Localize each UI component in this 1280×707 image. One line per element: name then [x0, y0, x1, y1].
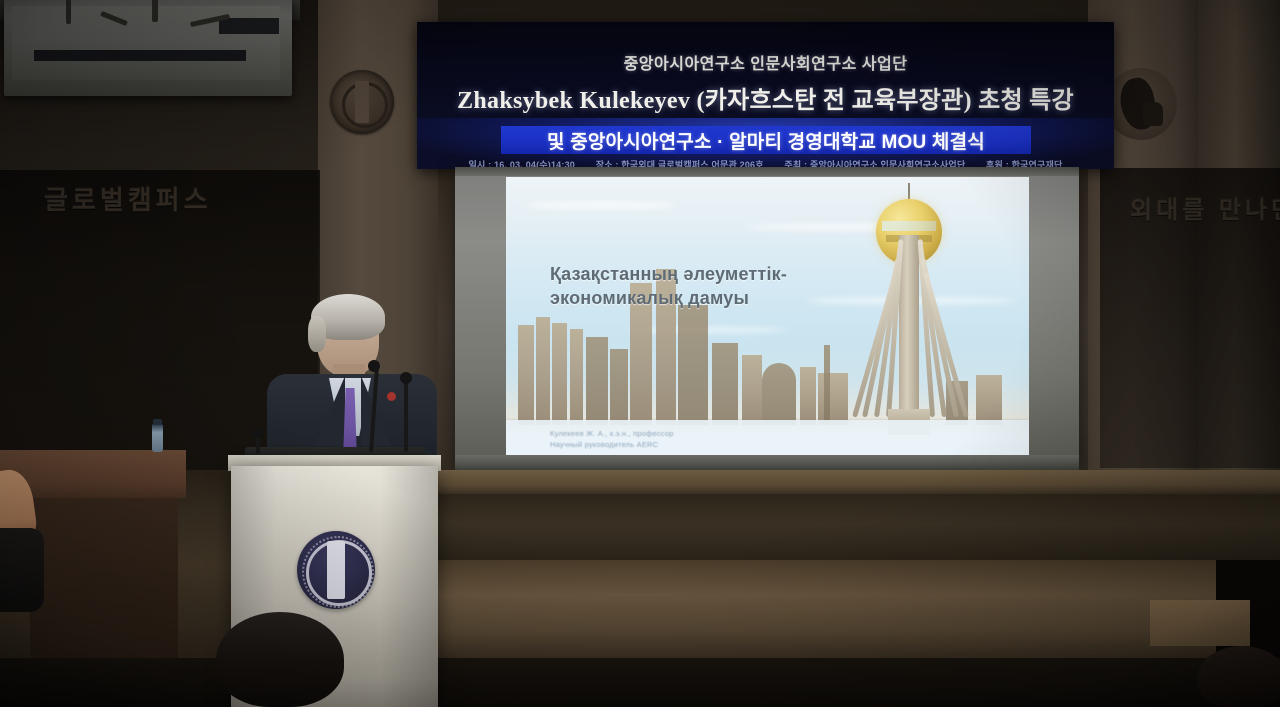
- microphone-head-icon: [252, 428, 264, 438]
- ceiling-monitor: [4, 0, 292, 96]
- monitor-bezel-bar: [34, 50, 246, 61]
- stage-riser: [430, 494, 1280, 560]
- sphere-window-band: [882, 221, 936, 231]
- skyline-building: [586, 337, 608, 425]
- cable-icon: [152, 0, 158, 22]
- skyline-building: [570, 329, 583, 425]
- water-bottle-cap: [153, 419, 162, 425]
- projection-screen: Қазақстанның әлеуметтік-экономикалық дам…: [455, 167, 1079, 467]
- skyline-building: [518, 325, 534, 425]
- event-banner: 중앙아시아연구소 인문사회연구소 사업단 Zhaksybek Kulekeyev…: [417, 22, 1114, 169]
- audience-head-front: [216, 612, 344, 707]
- monitor-port-block: [219, 18, 279, 34]
- slide-author-line2: Научный руководитель AERC: [550, 439, 674, 450]
- side-table-base: [30, 498, 178, 658]
- cloud-icon: [526, 201, 676, 210]
- wood-panel-right: [1150, 600, 1250, 646]
- stage-front-edge: [430, 470, 1280, 494]
- microphone-head-icon: [400, 372, 412, 384]
- slide-footer-band: Кулекеев Ж. А., к.э.н., профессор Научны…: [506, 420, 1029, 460]
- hufs-podium-emblem-icon: [297, 531, 375, 609]
- speaker-lapel-pin: [387, 392, 396, 401]
- skyline-building: [678, 305, 708, 425]
- skyline-building: [712, 343, 738, 425]
- foreground-shadow-band: [0, 658, 1280, 707]
- cable-icon: [66, 0, 71, 24]
- slide-author-line1: Кулекеев Ж. А., к.э.н., профессор: [550, 428, 674, 439]
- presentation-slide: Қазақстанның әлеуметтік-экономикалық дам…: [506, 177, 1029, 460]
- emblem-center-bar: [327, 541, 345, 599]
- hufs-emblem-icon: [330, 70, 394, 134]
- raised-arm-sleeve: [0, 528, 44, 612]
- banner-highlight-band: 및 중앙아시아연구소 · 알마티 경영대학교 MOU 체결식: [501, 126, 1031, 154]
- skyline-building: [800, 367, 816, 425]
- skyline-building: [536, 317, 550, 425]
- slide-title: Қазақстанның әлеуметтік-экономикалық дам…: [550, 263, 850, 311]
- banner-title-line: Zhaksybek Kulekeyev (카자흐스탄 전 교육부장관) 초청 특…: [417, 80, 1114, 115]
- skyline-mast: [824, 345, 830, 425]
- skyline-dome: [762, 363, 796, 425]
- podium-microphone: [404, 380, 408, 452]
- wall-lettering-right: 외대를 만나면: [1130, 190, 1280, 225]
- water-bottle: [152, 424, 163, 452]
- skyline-building: [976, 375, 1002, 425]
- wall-lettering-left: 글로벌캠퍼스: [44, 180, 212, 217]
- microphone-head-icon: [368, 360, 380, 372]
- skyline-building: [742, 355, 762, 425]
- banner-organizer-line: 중앙아시아연구소 인문사회연구소 사업단: [417, 50, 1114, 74]
- baiterek-tower: [844, 195, 974, 435]
- skyline-building: [610, 349, 628, 425]
- institute-logo-icon: [1105, 68, 1177, 140]
- slide-author-caption: Кулекеев Ж. А., к.э.н., профессор Научны…: [550, 428, 674, 451]
- speaker-hair-side: [308, 316, 326, 352]
- screen-top-bar: [455, 167, 1079, 176]
- skyline-building: [552, 323, 567, 425]
- tower-core: [899, 235, 919, 415]
- audience-head-right: [1198, 646, 1280, 707]
- lecture-hall-scene: 글로벌캠퍼스 외대를 만나면 중앙아시아연구소 인문사회연구소 사업단 Zhak…: [0, 0, 1280, 707]
- banner-highlight-line: 및 중앙아시아연구소 · 알마티 경영대학교 MOU 체결식: [547, 127, 985, 154]
